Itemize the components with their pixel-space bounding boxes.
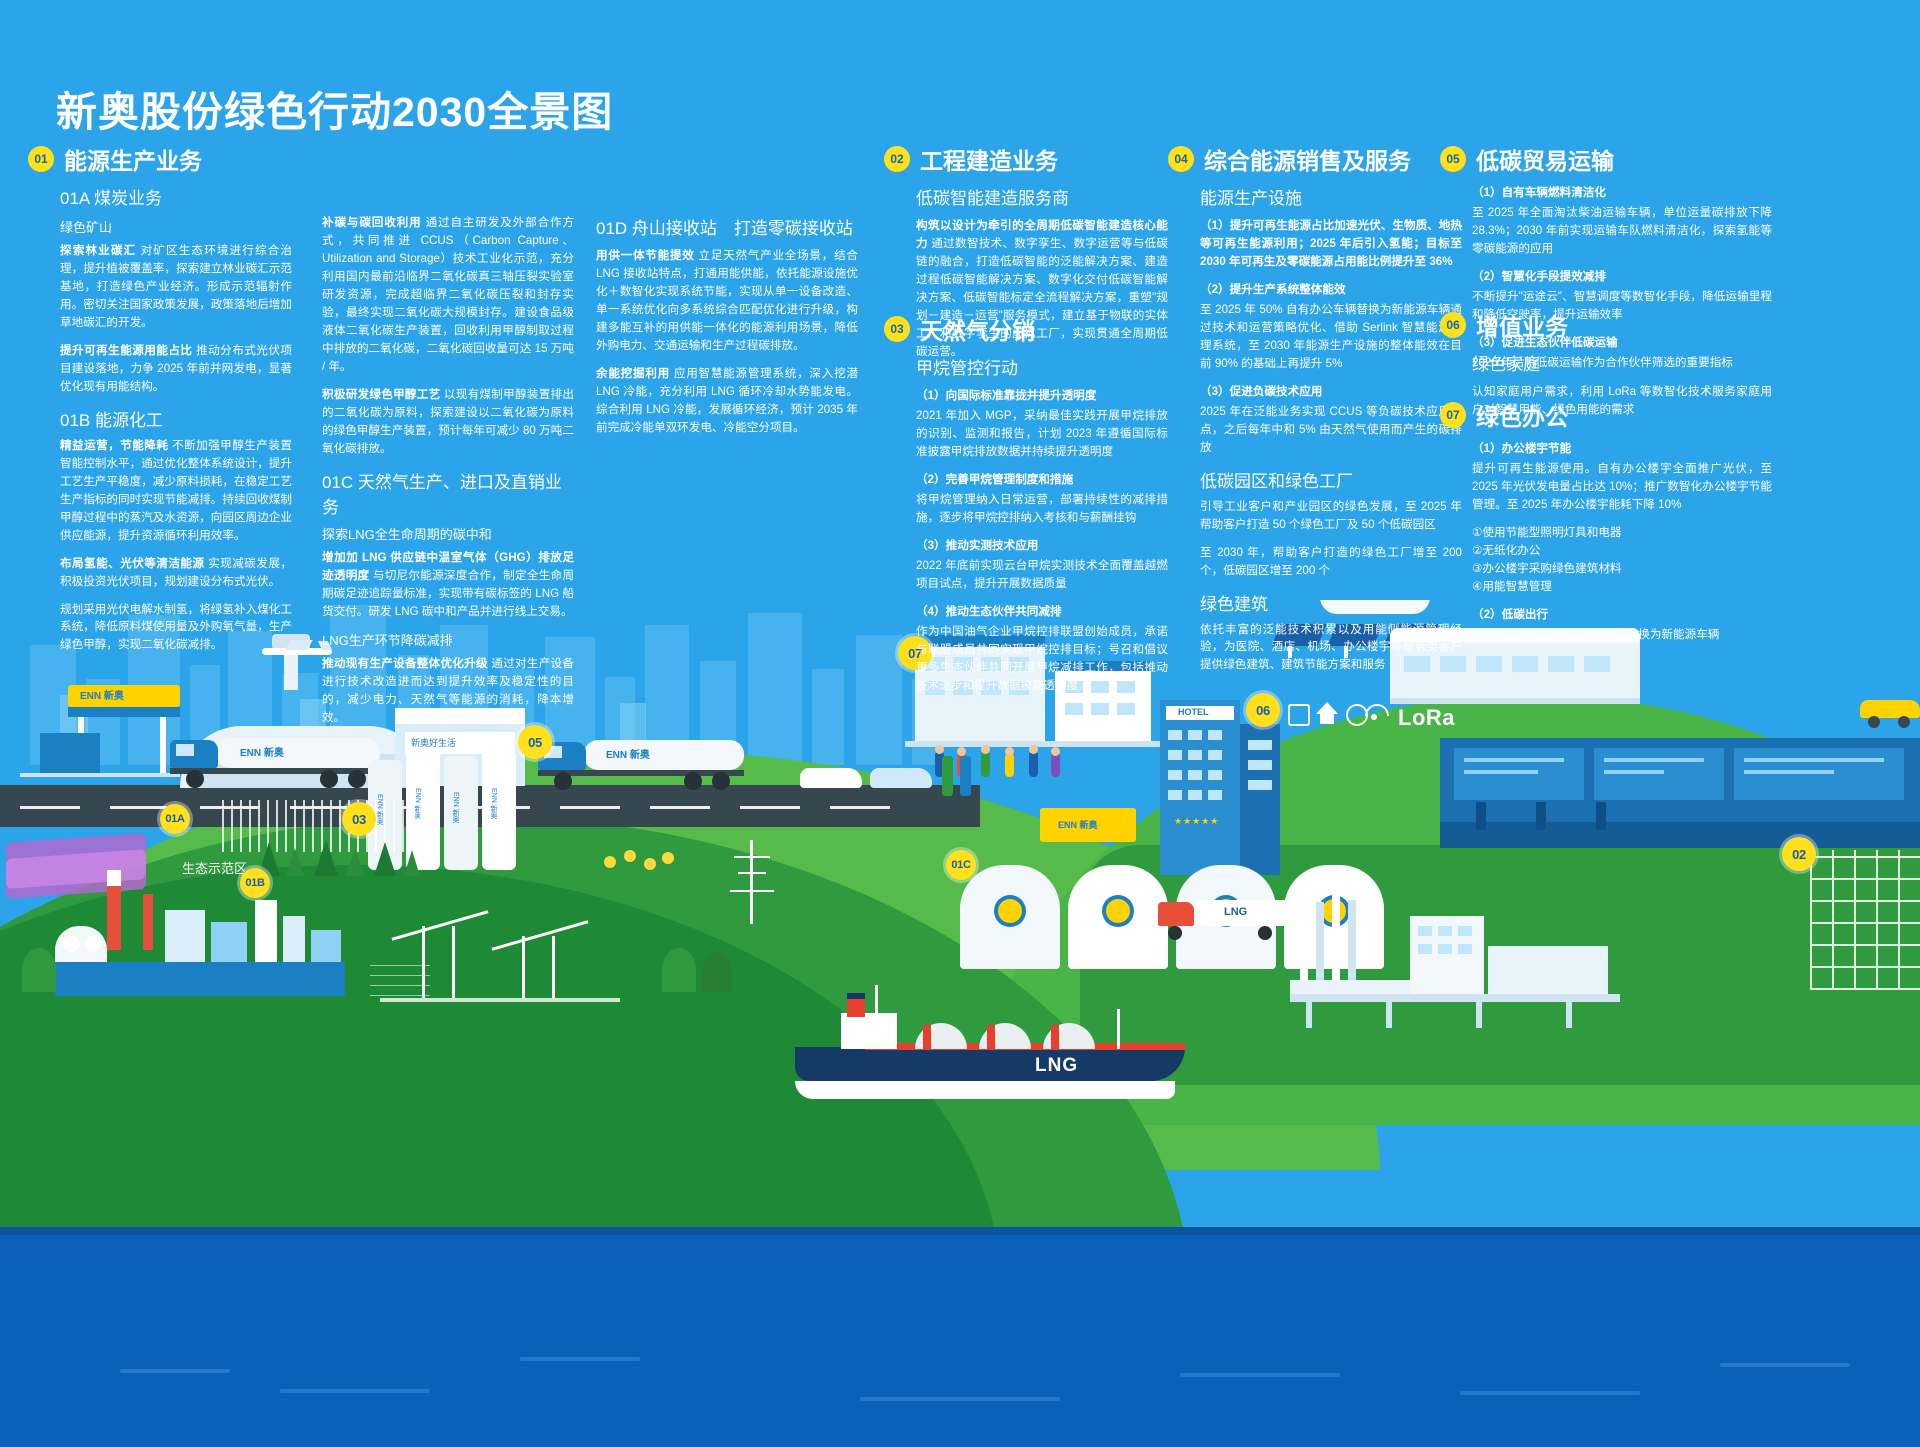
list-item-desc: 至 2025 年 50% 自有办公车辆替换为新能源车辆通过技术和运营策略优化、借…: [1200, 301, 1462, 373]
list-item-desc: 2021 年加入 MGP，采纳最佳实践开展甲烷排放的识别、监测和报告，计划 20…: [916, 407, 1168, 461]
paragraph-green-hydrogen: 规划采用光伏电解水制氢，将绿氢补入煤化工系统，降低原料煤使用量及外购氧气量，生产…: [60, 601, 292, 655]
list-item-title: （1）向国际标准靠拢并提升透明度: [916, 387, 1168, 405]
road-marking: [110, 806, 170, 809]
smart-home-icons: [1288, 698, 1368, 732]
enn-tanker-truck: ENN 新奥: [170, 734, 390, 788]
ocean: [0, 1227, 1920, 1447]
paragraph-green-factory-2030: 至 2030 年，帮助客户打造的绿色工厂增至 200 个，低碳园区增至 200 …: [1200, 544, 1462, 580]
road-marking: [20, 806, 80, 809]
road-marking: [560, 806, 620, 809]
section-07: 07 绿色办公 （1）办公楼宇节能 提升可再生能源使用。自有办公楼宇全面推广光伏…: [1440, 398, 1920, 654]
enn-store-sign: 新奥好生活: [411, 736, 456, 749]
list-item-desc: 将甲烷管理纳入日常运营，部署持续性的减排措施，逐步将甲烷控排纳入考核和与薪酬挂钩: [916, 491, 1168, 527]
scene-badge-01A[interactable]: 01A: [160, 804, 190, 834]
scene-badge-06[interactable]: 06: [1246, 693, 1280, 727]
shrub-icon: [22, 948, 56, 992]
section-01D: 01D 舟山接收站 打造零碳接收站 用供一体节能提效 立足天然气产业全场景，结合…: [596, 214, 868, 447]
taxi-vehicle: [1860, 694, 1920, 722]
shrub-icon: [702, 952, 732, 992]
paragraph-ccus: 补碳与碳回收利用 通过自主研发及外部合作方式，共同推进 CCUS（Carbon …: [322, 214, 574, 376]
ship-name-label: LNG: [1035, 1055, 1078, 1077]
wave-line: [120, 1369, 230, 1373]
scene-badge-01C[interactable]: 01C: [946, 850, 976, 880]
list-item-title: （1）办公楼宇节能: [1472, 440, 1772, 458]
list-item-title: （1）自有车辆燃料清洁化: [1472, 184, 1772, 202]
scene-badge-01B[interactable]: 01B: [240, 868, 270, 898]
section-title: 能源生产业务: [64, 142, 202, 176]
section-title: 低碳贸易运输: [1476, 142, 1614, 176]
section-01-column-2: 补碳与碳回收利用 通过自主研发及外部合作方式，共同推进 CCUS（Carbon …: [322, 214, 582, 737]
ev-charging-lot: [800, 750, 975, 800]
hotel-sign: HOTEL: [1178, 707, 1209, 717]
section-title: 天然气分销: [920, 312, 1035, 346]
page-title: 新奥股份绿色行动2030全景图: [56, 78, 613, 138]
section-number-badge: 04: [1168, 146, 1194, 172]
lng-truck-label: LNG: [1224, 906, 1247, 918]
list-item-title: （3）推动实测技术应用: [916, 537, 1168, 555]
road-marking: [740, 806, 800, 809]
construction-lattice: [1810, 850, 1920, 990]
enn-box-container: ENN 新奥: [1040, 808, 1136, 842]
list-item-title: （3）促进负碳技术应用: [1200, 383, 1462, 401]
subsection-label-low-carbon-builder: 低碳智能建造服务商: [916, 184, 1168, 209]
section-number-badge: 07: [1440, 402, 1466, 428]
section-03: 03 天然气分销 甲烷管控行动 （1）向国际标准靠拢并提升透明度 2021 年加…: [884, 312, 1174, 705]
section-title: 综合能源销售及服务: [1204, 142, 1411, 176]
subsection-label-green-family: 绿色家庭: [1472, 350, 1772, 375]
paragraph-hydrogen-solar: 布局氢能、光伏等清洁能源 实现减碳发展，积极投资光伏项目，规划建设分布式光伏。: [60, 555, 292, 591]
list-item-title: （2）低碳出行: [1472, 606, 1772, 624]
illustration-scene: AIRPORT ENN 新奥 新奥好生活: [0, 600, 1920, 1447]
truck-logo-label: ENN 新奥: [606, 746, 650, 761]
paragraph-waste-energy-use: 余能挖掘利用 应用智慧能源管理系统，深入挖潜 LNG 冷能，充分利用 LNG 循…: [596, 365, 858, 437]
subsection-label-energy-production-facility: 能源生产设施: [1200, 184, 1462, 209]
wave-line: [1460, 1391, 1640, 1395]
stack-label: ENN 新奥: [488, 788, 498, 819]
section-number-badge: 01: [28, 146, 54, 172]
section-number-badge: 02: [884, 146, 910, 172]
paragraph-lean-operation: 精益运营，节能降耗 不断加强甲醇生产装置智能控制水平，通过优化整体系统设计，提升…: [60, 437, 292, 545]
hotel-stars: ★★★★★: [1174, 816, 1219, 827]
subsection-label-green-mine: 绿色矿山: [60, 217, 292, 236]
scene-badge-02[interactable]: 02: [1782, 837, 1816, 871]
flower-field: [600, 850, 680, 890]
scene-badge-03[interactable]: 03: [342, 802, 376, 836]
paragraph-equipment-upgrade: 推动现有生产设备整体优化升级 通过对生产设备进行技术改造进而达到提升效率及稳定性…: [322, 655, 574, 727]
paragraph-green-building-service: 依托丰富的泛能技术积累以及用能侧能源管理经验，为医院、酒店、机场、办公楼宇等建筑…: [1200, 621, 1462, 675]
wave-line: [1180, 1373, 1340, 1377]
shrub-icon: [662, 948, 696, 992]
lng-carrier-ship: LNG: [795, 985, 1185, 1105]
paragraph-ghg-transparency: 增加加 LNG 供应链中温室气体（GHG）排放足迹透明度 与切尼尔能源深度合作，…: [322, 549, 574, 621]
stack-label: ENN 新奥: [450, 792, 460, 823]
subsection-heading-01B: 01B 能源化工: [60, 406, 292, 431]
paragraph-integrated-energy-saving: 用供一体节能提效 立足天然气产业全场景，结合 LNG 接收站特点，打通用能供能，…: [596, 247, 858, 355]
subsection-label-lng-lifecycle: 探索LNG全生命周期的碳中和: [322, 524, 574, 543]
truck-logo-label: ENN 新奥: [240, 744, 284, 759]
port-cranes: [380, 900, 620, 1010]
section-title: 工程建造业务: [920, 142, 1058, 176]
road-marking: [830, 806, 890, 809]
wave-line: [280, 1389, 430, 1393]
subsection-heading-01A: 01A 煤炭业务: [60, 184, 292, 209]
list-item-desc: 至 2025 年 50% 自有办公车辆替换为新能源车辆: [1472, 626, 1772, 644]
list-item-sublist: ①使用节能型照明灯具和电器 ②无纸化办公 ③办公楼宇采购绿色建筑材料 ④用能智慧…: [1472, 524, 1772, 596]
list-item-title: （2）提升生产系统整体能效: [1200, 281, 1462, 299]
list-item-title: （4）推动生态伙伴共同减排: [916, 603, 1168, 621]
list-item-desc: 作为中国油气企业甲烷控排联盟创始成员，承诺与联盟成员共同实现甲烷控排目标；号召和…: [916, 623, 1168, 695]
list-item-desc: 提升可再生能源使用。自有办公楼宇全面推广光伏，至 2025 年光伏发电量占比达 …: [1472, 460, 1772, 514]
subsection-heading-01D: 01D 舟山接收站 打造零碳接收站: [596, 214, 858, 239]
subsection-heading-01C: 01C 天然气生产、进口及直销业务: [322, 468, 574, 518]
wifi-signal-icon: [1365, 696, 1395, 724]
section-title: 增值业务: [1476, 308, 1568, 342]
list-item-title: （1）提升可再生能源占比加速光伏、生物质、地热等可再生能源利用；2025 年后引…: [1200, 217, 1462, 271]
lng-truck: LNG: [1158, 900, 1294, 942]
section-01: 01 能源生产业务 01A 煤炭业务 绿色矿山 探索林业碳汇 对矿区生态环境进行…: [28, 142, 318, 664]
poster-root: AIRPORT ENN 新奥 新奥好生活: [0, 0, 1920, 1447]
list-item-desc: 2022 年底前实现云台甲烷实测技术全面覆盖越燃项目试点，提升开展数据质量: [916, 557, 1168, 593]
section-number-badge: 05: [1440, 146, 1466, 172]
subsection-label-low-carbon-park: 低碳园区和绿色工厂: [1200, 467, 1462, 492]
wave-line: [860, 1397, 1060, 1401]
paragraph-green-factory-2025: 引导工业客户和产业园区的绿色发展，至 2025 年帮助客户打造 50 个绿色工厂…: [1200, 498, 1462, 534]
subsection-label-lng-production: LNG生产环节降碳减排: [322, 630, 574, 649]
refinery-complex: [1290, 850, 1620, 1010]
enn-gas-station: ENN 新奥: [20, 685, 180, 790]
paragraph-forest-carbon-sink: 探索林业碳汇 对矿区生态环境进行综合治理，提升植被覆盖率，探索建立林业碳汇示范基…: [60, 242, 292, 332]
paragraph-renewable-share: 提升可再生能源用能占比 推动分布式光伏项目建设落地，力争 2025 年前并网发电…: [60, 342, 292, 396]
list-item-title: （2）完善甲烷管理制度和措施: [916, 471, 1168, 489]
wave-line: [520, 1357, 640, 1361]
paragraph-green-methanol: 积极研发绿色甲醇工艺 以现有煤制甲醇装置排出的二氧化碳为原料，探索建设以二氧化碳…: [322, 386, 574, 458]
road-marking: [650, 806, 710, 809]
wave-line: [1720, 1363, 1850, 1367]
list-item-desc: 至 2025 年全面淘汰柴油运输车辆，单位运量碳排放下降 28.3%；2030 …: [1472, 204, 1772, 258]
section-number-badge: 06: [1440, 312, 1466, 338]
chemical-plant: [55, 870, 345, 1000]
list-item-desc: 2025 年在泛能业务实现 CCUS 等负碳技术应用试点，之后每年中和 5% 由…: [1200, 403, 1462, 457]
power-pylon: [730, 840, 774, 924]
lora-label: LoRa: [1398, 705, 1455, 731]
control-room: [1440, 738, 1920, 848]
subsection-label-green-building: 绿色建筑: [1200, 590, 1462, 615]
container-label: ENN 新奥: [1058, 818, 1098, 831]
enn-tanker-truck: ENN 新奥: [538, 736, 753, 790]
list-item-title: （2）智慧化手段提效减排: [1472, 268, 1772, 286]
subsection-label-methane-action: 甲烷管控行动: [916, 354, 1168, 379]
section-04: 04 综合能源销售及服务 能源生产设施 （1）提升可再生能源占比加速光伏、生物质…: [1168, 142, 1458, 684]
enn-logo-label: ENN 新奥: [80, 687, 124, 702]
section-number-badge: 03: [884, 316, 910, 342]
section-title: 绿色办公: [1476, 398, 1568, 432]
